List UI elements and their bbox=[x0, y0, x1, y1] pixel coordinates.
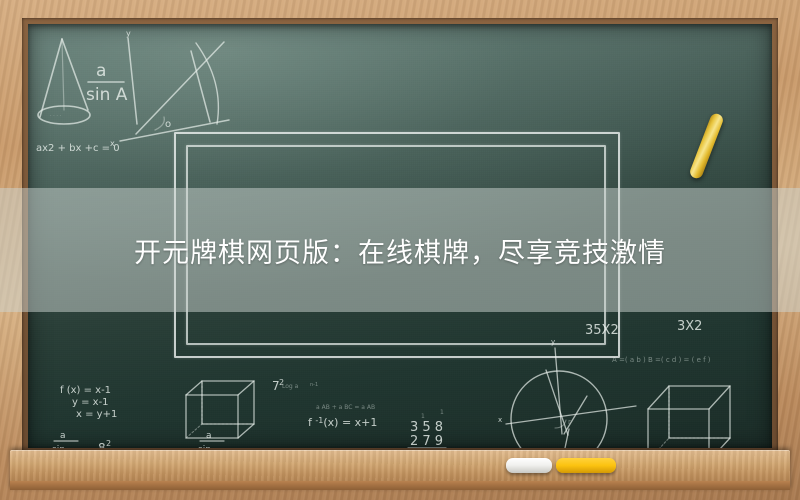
svg-text:sin A: sin A bbox=[86, 85, 128, 105]
screenshot-stage: · · · · a sin A y bbox=[0, 0, 800, 500]
svg-text:3 5 8: 3 5 8 bbox=[410, 420, 443, 435]
cone-drawing: · · · · bbox=[38, 39, 90, 124]
svg-text:2 7 9: 2 7 9 bbox=[410, 434, 443, 448]
svg-text:o: o bbox=[165, 119, 171, 130]
function-equations: f (x) = x-1 y = x-1 x = y+1 bbox=[60, 385, 117, 420]
svg-text:a: a bbox=[96, 61, 106, 81]
svg-text:· · · ·: · · · · bbox=[50, 113, 62, 119]
svg-text:f (x) = x-1: f (x) = x-1 bbox=[60, 385, 111, 396]
matrix-note: A =( a b ) B =( c d ) = ( e f ) bbox=[612, 356, 711, 364]
page-title: 开元牌棋网页版：在线棋牌，尽享竞技激情 bbox=[0, 188, 800, 312]
chalk-yellow-tray bbox=[556, 458, 616, 473]
svg-text:y: y bbox=[126, 29, 131, 38]
faint-equation: a AB + a BC = a AB bbox=[316, 404, 375, 411]
cube-wireframe-right bbox=[648, 386, 730, 448]
eight-squared: 8 2 bbox=[98, 439, 111, 448]
ledge-lip bbox=[10, 481, 790, 490]
svg-text:sin: sin bbox=[198, 445, 211, 448]
svg-text:y = x-1: y = x-1 bbox=[72, 397, 109, 408]
svg-text:8: 8 bbox=[98, 441, 106, 448]
svg-text:x = y+1: x = y+1 bbox=[76, 409, 117, 420]
svg-text:n-1: n-1 bbox=[310, 382, 318, 388]
svg-text:a: a bbox=[60, 431, 66, 441]
angle-diagram: y x o bbox=[110, 29, 229, 148]
svg-text:sin: sin bbox=[52, 445, 65, 448]
svg-text:2: 2 bbox=[106, 439, 111, 448]
fraction-a-over-sinA-top: a sin A bbox=[86, 61, 128, 105]
label-3x2: 3X2 bbox=[677, 319, 702, 334]
chalk-white-tray bbox=[506, 458, 552, 473]
fraction-a-over-sinA-bottom-center: a sin A bbox=[198, 431, 225, 448]
cube-wireframe-left bbox=[186, 381, 254, 438]
fraction-a-over-sinA-bottom-left: a sin A bbox=[52, 431, 79, 448]
svg-text:1: 1 bbox=[440, 409, 444, 416]
chalk-ledge bbox=[10, 450, 790, 490]
column-addition: 1 1 3 5 8 2 7 9 6 3 7 bbox=[408, 409, 446, 448]
inverse-function: f -1(x) = x+1 bbox=[308, 416, 377, 429]
svg-text:1: 1 bbox=[421, 413, 425, 420]
log-note: Log a bbox=[282, 383, 299, 390]
quadratic-equation: ax2 + bx +c = 0 bbox=[36, 143, 120, 154]
svg-text:r: r bbox=[568, 418, 571, 426]
svg-text:x: x bbox=[498, 416, 502, 424]
svg-text:a: a bbox=[206, 431, 212, 441]
